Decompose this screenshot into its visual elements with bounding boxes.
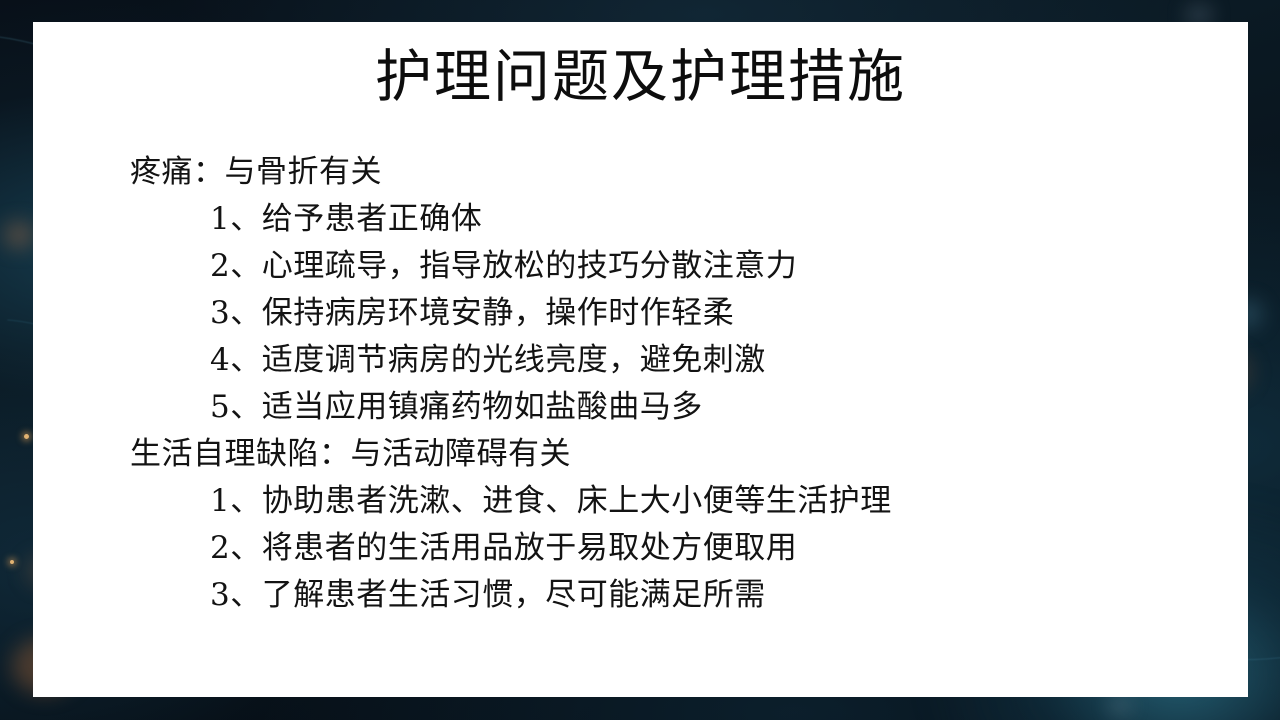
list-item: 3、了解患者生活习惯，尽可能满足所需 (130, 572, 1210, 619)
list-item: 1、给予患者正确体 (130, 196, 1210, 243)
section-heading-pain: 疼痛：与骨折有关 (130, 149, 1210, 196)
list-item: 1、协助患者洗漱、进食、床上大小便等生活护理 (130, 478, 1210, 525)
slide-body: 疼痛：与骨折有关 1、给予患者正确体 2、心理疏导，指导放松的技巧分散注意力 3… (130, 149, 1210, 619)
background-bokeh (4, 222, 34, 248)
list-item: 5、适当应用镇痛药物如盐酸曲马多 (130, 384, 1210, 431)
presentation-slide: 护理问题及护理措施 疼痛：与骨折有关 1、给予患者正确体 2、心理疏导，指导放松… (0, 0, 1280, 720)
list-item: 3、保持病房环境安静，操作时作轻柔 (130, 290, 1210, 337)
background-sparkle (24, 434, 29, 439)
background-bokeh (1110, 700, 1130, 712)
section-heading-self-care-deficit: 生活自理缺陷：与活动障碍有关 (130, 431, 1210, 478)
list-item: 2、将患者的生活用品放于易取处方便取用 (130, 525, 1210, 572)
list-item: 2、心理疏导，指导放松的技巧分散注意力 (130, 243, 1210, 290)
list-item: 4、适度调节病房的光线亮度，避免刺激 (130, 337, 1210, 384)
slide-content-card: 护理问题及护理措施 疼痛：与骨折有关 1、给予患者正确体 2、心理疏导，指导放松… (33, 22, 1248, 697)
page-title: 护理问题及护理措施 (33, 45, 1248, 111)
background-sparkle (10, 560, 14, 564)
